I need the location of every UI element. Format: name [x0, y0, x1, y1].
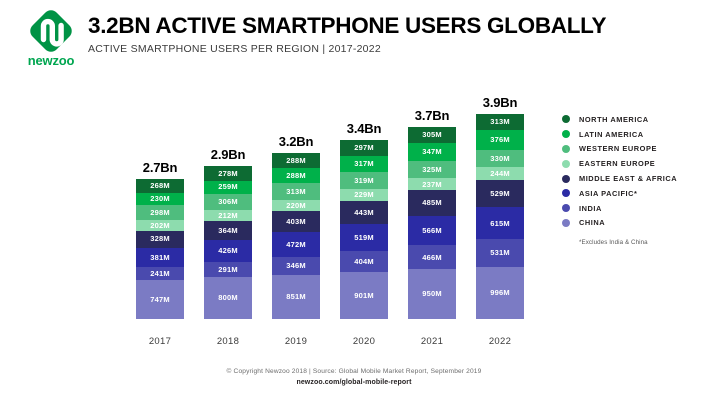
bar-segment[interactable]: 426M	[204, 240, 252, 262]
bar-segment[interactable]: 404M	[340, 251, 388, 272]
bar-segment[interactable]: 317M	[340, 156, 388, 173]
bar-segment[interactable]: 202M	[136, 220, 184, 231]
column-total-label: 3.2Bn	[261, 134, 331, 149]
bar-segment[interactable]: 288M	[272, 168, 320, 183]
bar-segment[interactable]: 298M	[136, 205, 184, 221]
legend-item[interactable]: WESTERN EUROPE	[562, 142, 708, 157]
bar-segment-value: 328M	[150, 235, 170, 243]
legend-item-label: WESTERN EUROPE	[579, 144, 657, 153]
bar-segment-value: 202M	[150, 222, 170, 230]
bar-segment[interactable]: 747M	[136, 280, 184, 319]
bar-segment[interactable]: 212M	[204, 210, 252, 221]
stacked-bar[interactable]: 278M259M306M212M364M426M291M800M	[204, 166, 252, 319]
bar-segment-value: 485M	[422, 199, 442, 207]
legend-item-label: ASIA PACIFIC*	[579, 189, 637, 198]
bar-segment[interactable]: 313M	[272, 183, 320, 199]
bar-segment[interactable]: 485M	[408, 190, 456, 215]
bar-segment[interactable]: 403M	[272, 211, 320, 232]
bar-segment[interactable]: 229M	[340, 189, 388, 201]
bar-segment-value: 346M	[286, 262, 306, 270]
legend-item-label: EASTERN EUROPE	[579, 159, 655, 168]
copyright-text: © Copyright Newzoo 2018 | Source: Global…	[0, 368, 708, 375]
x-axis-tick-label: 2018	[193, 336, 263, 347]
bar-segment[interactable]: 241M	[136, 267, 184, 280]
chart-column[interactable]: 3.7Bn305M347M325M237M485M566M466M950M202…	[397, 0, 467, 411]
bar-segment-value: 298M	[150, 209, 170, 217]
bar-segment-value: 901M	[354, 292, 374, 300]
bar-segment[interactable]: 901M	[340, 272, 388, 319]
chart-column[interactable]: 3.4Bn297M317M319M229M443M519M404M901M202…	[329, 0, 399, 411]
bar-segment-value: 472M	[286, 241, 306, 249]
legend-color-swatch-icon	[562, 115, 570, 123]
bar-segment-value: 403M	[286, 218, 306, 226]
column-total-label: 3.4Bn	[329, 121, 399, 136]
legend-color-swatch-icon	[562, 145, 570, 153]
bar-segment-value: 229M	[354, 191, 374, 199]
bar-segment-value: 288M	[286, 172, 306, 180]
legend-item[interactable]: CHINA	[562, 216, 708, 231]
bar-segment[interactable]: 347M	[408, 143, 456, 161]
bar-segment[interactable]: 346M	[272, 257, 320, 275]
bar-segment[interactable]: 330M	[476, 150, 524, 167]
legend-item[interactable]: ASIA PACIFIC*	[562, 186, 708, 201]
bar-segment[interactable]: 297M	[340, 140, 388, 155]
column-total-label: 2.9Bn	[193, 147, 263, 162]
column-total-label: 3.9Bn	[465, 95, 535, 110]
legend-item[interactable]: INDIA	[562, 201, 708, 216]
stacked-bar[interactable]: 268M230M298M202M328M381M241M747M	[136, 179, 184, 319]
bar-segment[interactable]: 472M	[272, 232, 320, 257]
column-total-label: 2.7Bn	[125, 160, 195, 175]
bar-segment[interactable]: 529M	[476, 180, 524, 208]
chart-column[interactable]: 3.9Bn313M376M330M244M529M615M531M996M202…	[465, 0, 535, 411]
legend-items: NORTH AMERICALATIN AMERICAWESTERN EUROPE…	[562, 112, 708, 230]
chart-column[interactable]: 2.7Bn268M230M298M202M328M381M241M747M201…	[125, 0, 195, 411]
bar-segment-value: 268M	[150, 182, 170, 190]
bar-segment-value: 466M	[422, 254, 442, 262]
chart-legend: NORTH AMERICALATIN AMERICAWESTERN EUROPE…	[562, 112, 708, 246]
bar-segment[interactable]: 291M	[204, 262, 252, 277]
legend-item-label: NORTH AMERICA	[579, 115, 649, 124]
bar-segment[interactable]: 328M	[136, 231, 184, 248]
bar-segment[interactable]: 364M	[204, 221, 252, 240]
bar-segment[interactable]: 259M	[204, 181, 252, 194]
bar-segment-value: 996M	[490, 289, 510, 297]
bar-segment[interactable]: 381M	[136, 248, 184, 268]
bar-segment-value: 237M	[422, 181, 442, 189]
bar-segment-value: 381M	[150, 254, 170, 262]
legend-item[interactable]: EASTERN EUROPE	[562, 156, 708, 171]
bar-segment-value: 212M	[218, 212, 238, 220]
chart-column[interactable]: 3.2Bn288M288M313M220M403M472M346M851M201…	[261, 0, 331, 411]
bar-segment-value: 291M	[218, 266, 238, 274]
bar-segment-value: 305M	[422, 131, 442, 139]
bar-segment-value: 376M	[490, 136, 510, 144]
bar-segment[interactable]: 376M	[476, 130, 524, 150]
bar-segment-value: 529M	[490, 190, 510, 198]
bar-segment[interactable]: 313M	[476, 114, 524, 130]
bar-segment-value: 950M	[422, 290, 442, 298]
legend-item-label: LATIN AMERICA	[579, 130, 644, 139]
bar-segment-value: 851M	[286, 293, 306, 301]
bar-segment[interactable]: 851M	[272, 275, 320, 319]
bar-segment-value: 319M	[354, 177, 374, 185]
legend-item[interactable]: NORTH AMERICA	[562, 112, 708, 127]
chart-column[interactable]: 2.9Bn278M259M306M212M364M426M291M800M201…	[193, 0, 263, 411]
bar-segment[interactable]: 220M	[272, 200, 320, 211]
bar-segment[interactable]: 319M	[340, 172, 388, 189]
bar-segment-value: 244M	[490, 170, 510, 178]
legend-item-label: CHINA	[579, 218, 605, 227]
bar-segment[interactable]: 566M	[408, 216, 456, 245]
bar-segment[interactable]: 268M	[136, 179, 184, 193]
source-url[interactable]: newzoo.com/global-mobile-report	[0, 379, 708, 386]
legend-color-swatch-icon	[562, 189, 570, 197]
bar-segment[interactable]: 244M	[476, 167, 524, 180]
bar-segment-value: 443M	[354, 209, 374, 217]
legend-color-swatch-icon	[562, 130, 570, 138]
legend-color-swatch-icon	[562, 175, 570, 183]
bar-segment[interactable]: 466M	[408, 245, 456, 269]
bar-segment-value: 330M	[490, 155, 510, 163]
bar-segment[interactable]: 237M	[408, 178, 456, 190]
bar-segment[interactable]: 278M	[204, 166, 252, 180]
stacked-bar[interactable]: 305M347M325M237M485M566M466M950M	[408, 127, 456, 319]
x-axis-tick-label: 2021	[397, 336, 467, 347]
bar-segment-value: 220M	[286, 202, 306, 210]
bar-segment-value: 259M	[218, 183, 238, 191]
bar-segment-value: 519M	[354, 234, 374, 242]
bar-segment[interactable]: 443M	[340, 201, 388, 224]
x-axis-tick-label: 2019	[261, 336, 331, 347]
bar-segment-value: 364M	[218, 227, 238, 235]
bar-segment[interactable]: 950M	[408, 269, 456, 318]
chart-footer: © Copyright Newzoo 2018 | Source: Global…	[0, 368, 708, 386]
legend-item[interactable]: MIDDLE EAST & AFRICA	[562, 171, 708, 186]
bar-segment-value: 747M	[150, 296, 170, 304]
x-axis-tick-label: 2022	[465, 336, 535, 347]
bar-segment[interactable]: 996M	[476, 267, 524, 319]
stacked-bar[interactable]: 288M288M313M220M403M472M346M851M	[272, 153, 320, 319]
bar-segment-value: 325M	[422, 166, 442, 174]
legend-color-swatch-icon	[562, 204, 570, 212]
stacked-bar[interactable]: 313M376M330M244M529M615M531M996M	[476, 114, 524, 319]
bar-segment-value: 306M	[218, 198, 238, 206]
bar-segment-value: 615M	[490, 220, 510, 228]
bar-segment-value: 800M	[218, 294, 238, 302]
bar-segment-value: 313M	[286, 188, 306, 196]
bar-segment-value: 404M	[354, 258, 374, 266]
bar-segment-value: 313M	[490, 118, 510, 126]
bar-segment-value: 347M	[422, 148, 442, 156]
bar-segment[interactable]: 531M	[476, 239, 524, 267]
bar-segment-value: 317M	[354, 160, 374, 168]
bar-segment[interactable]: 325M	[408, 161, 456, 178]
bar-segment-value: 531M	[490, 249, 510, 257]
bar-segment[interactable]: 306M	[204, 194, 252, 210]
legend-item-label: INDIA	[579, 204, 602, 213]
legend-footnote: *Excludes India & China	[579, 239, 708, 246]
legend-color-swatch-icon	[562, 160, 570, 168]
bar-segment[interactable]: 519M	[340, 224, 388, 251]
stacked-bar[interactable]: 297M317M319M229M443M519M404M901M	[340, 140, 388, 319]
x-axis-tick-label: 2017	[125, 336, 195, 347]
bar-segment-value: 566M	[422, 227, 442, 235]
column-total-label: 3.7Bn	[397, 108, 467, 123]
legend-color-swatch-icon	[562, 219, 570, 227]
bar-segment[interactable]: 230M	[136, 193, 184, 205]
bar-segment[interactable]: 305M	[408, 127, 456, 143]
bar-segment-value: 241M	[150, 270, 170, 278]
bar-segment-value: 278M	[218, 170, 238, 178]
bar-segment-value: 297M	[354, 144, 374, 152]
bar-segment[interactable]: 800M	[204, 277, 252, 319]
x-axis-tick-label: 2020	[329, 336, 399, 347]
legend-item-label: MIDDLE EAST & AFRICA	[579, 174, 677, 183]
bar-segment[interactable]: 615M	[476, 207, 524, 239]
bar-segment[interactable]: 288M	[272, 153, 320, 168]
bar-segment-value: 230M	[150, 195, 170, 203]
bar-segment-value: 288M	[286, 157, 306, 165]
bar-segment-value: 426M	[218, 247, 238, 255]
legend-item[interactable]: LATIN AMERICA	[562, 127, 708, 142]
